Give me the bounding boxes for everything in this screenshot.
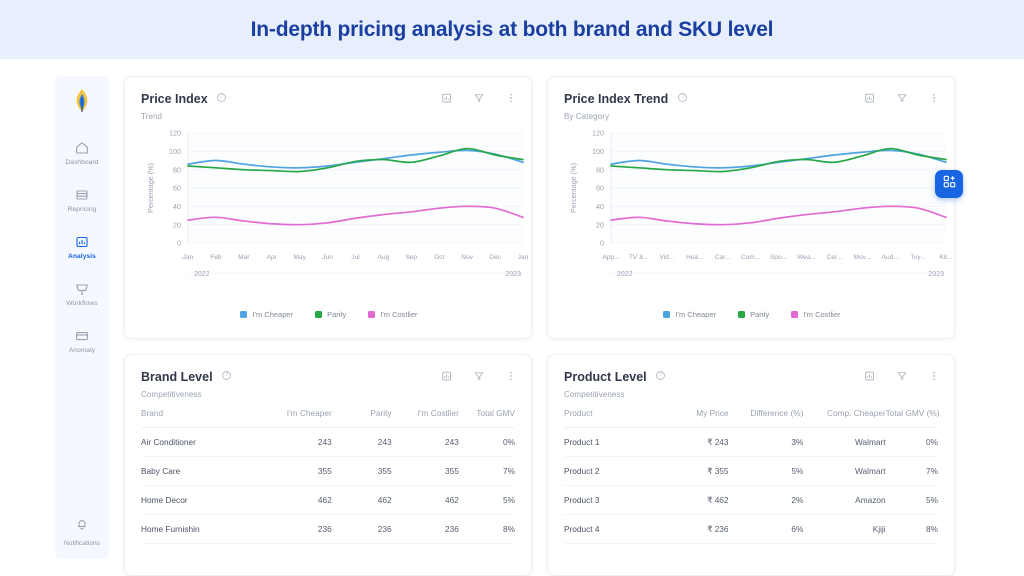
table-cell: 2% xyxy=(729,486,804,515)
export-chart-icon[interactable] xyxy=(864,369,876,381)
table-cell: Product 3 xyxy=(564,486,665,515)
y-axis-tick: 40 xyxy=(596,202,604,211)
table-row[interactable]: Product 2₹ 3555%Walmart7% xyxy=(564,457,938,486)
app-stage: Dashboard Repricing xyxy=(0,59,1024,576)
card-title: Product Level xyxy=(564,370,647,384)
chart-legend: I'm Cheaper Parity I'm Costlier xyxy=(548,310,956,319)
y-axis-tick: 60 xyxy=(596,184,604,193)
home-icon xyxy=(74,140,90,156)
x-axis-tick: Sep xyxy=(405,254,417,261)
filter-icon[interactable] xyxy=(896,91,908,103)
x-axis-tick: Aug xyxy=(378,254,390,261)
brand-level-table: BrandI'm CheaperParityI'm CostlierTotal … xyxy=(141,403,515,544)
table-cell: 355 xyxy=(392,457,459,486)
export-chart-icon[interactable] xyxy=(441,369,453,381)
x-axis-tick: Oct xyxy=(434,254,444,261)
table-body: Air Conditioner2432432430%Baby Care35535… xyxy=(141,428,515,544)
x-axis-tick: Apr xyxy=(267,254,278,261)
more-options-icon[interactable] xyxy=(505,369,517,381)
axis-range-start-label: 2022 xyxy=(194,271,210,278)
table-product-level: ProductMy PriceDifference (%)Comp. Cheap… xyxy=(548,403,954,544)
x-axis-tick: Nov xyxy=(461,254,473,261)
card-title: Brand Level xyxy=(141,370,213,384)
table-cell: Product 4 xyxy=(564,515,665,544)
sidebar-item-dashboard[interactable]: Dashboard xyxy=(55,133,109,173)
sidebar-item-label: Notifications xyxy=(64,540,100,547)
help-circle-icon[interactable] xyxy=(217,93,226,102)
table-cell: Product 1 xyxy=(564,428,665,457)
x-axis-tick: Aud... xyxy=(882,254,899,261)
table-header-row: BrandI'm CheaperParityI'm CostlierTotal … xyxy=(141,403,515,428)
y-axis-tick: 100 xyxy=(169,147,181,156)
sidebar-item-notifications[interactable]: Notifications xyxy=(55,516,109,547)
legend-label: Parity xyxy=(327,310,346,319)
y-axis-tick: 80 xyxy=(596,165,604,174)
table-cell: 0% xyxy=(459,428,515,457)
x-axis-tick: Mov... xyxy=(854,254,872,261)
card-title: Price Index xyxy=(141,92,208,106)
y-axis-tick: 0 xyxy=(600,239,604,248)
export-chart-icon[interactable] xyxy=(864,91,876,103)
legend-swatch-cheaper xyxy=(240,311,247,318)
legend-label: I'm Cheaper xyxy=(252,310,293,319)
table-row[interactable]: Product 4₹ 2366%Kjiji8% xyxy=(564,515,938,544)
product-level-table: ProductMy PriceDifference (%)Comp. Cheap… xyxy=(564,403,938,544)
table-cell: Walmart xyxy=(803,428,885,457)
legend-label: I'm Cheaper xyxy=(675,310,716,319)
column-header[interactable]: Comp. Cheaper xyxy=(803,403,885,428)
card-actions xyxy=(864,91,940,103)
table-cell: Home Furnishin xyxy=(141,515,257,544)
card-price-index: Price Index Trend xyxy=(124,76,532,339)
x-axis-tick: Jul xyxy=(351,254,360,261)
x-axis-tick: May xyxy=(293,254,306,261)
column-header[interactable]: Product xyxy=(564,403,665,428)
x-axis-tick: Jun xyxy=(322,254,333,261)
help-circle-icon[interactable] xyxy=(222,371,231,380)
table-cell: 236 xyxy=(257,515,332,544)
sidebar-nav: Dashboard Repricing xyxy=(55,133,109,368)
more-options-icon[interactable] xyxy=(928,369,940,381)
bell-icon xyxy=(74,516,90,537)
x-axis-tick: Com... xyxy=(741,254,761,261)
table-cell: 462 xyxy=(332,486,392,515)
analysis-icon xyxy=(74,234,90,250)
column-header[interactable]: Brand xyxy=(141,403,257,428)
column-header[interactable]: My Price xyxy=(665,403,729,428)
filter-icon[interactable] xyxy=(473,91,485,103)
axis-range-end-label: 2023 xyxy=(928,271,944,278)
table-cell: ₹ 243 xyxy=(665,428,729,457)
table-cell: Walmart xyxy=(803,457,885,486)
table-cell: 243 xyxy=(257,428,332,457)
sidebar-item-repricing[interactable]: Repricing xyxy=(55,180,109,220)
legend-item[interactable]: I'm Cheaper xyxy=(240,310,293,319)
table-row[interactable]: Product 3₹ 4622%Amazon5% xyxy=(564,486,938,515)
table-cell: ₹ 236 xyxy=(665,515,729,544)
x-axis-scroll-left-icon[interactable]: ‹ xyxy=(604,254,606,261)
axis-range-start-label: 2022 xyxy=(617,271,633,278)
axis-range-end-label: 2023 xyxy=(505,271,521,278)
table-brand-level: BrandI'm CheaperParityI'm CostlierTotal … xyxy=(125,403,531,544)
legend-swatch-cheaper xyxy=(663,311,670,318)
legend-swatch-parity xyxy=(738,311,745,318)
column-header[interactable]: I'm Costlier xyxy=(392,403,459,428)
table-cell: 236 xyxy=(392,515,459,544)
column-header[interactable]: Parity xyxy=(332,403,392,428)
x-axis-tick: Toy... xyxy=(910,254,925,261)
y-axis-tick: 120 xyxy=(592,129,604,138)
x-axis-tick: TV &... xyxy=(629,254,649,261)
table-row[interactable]: Air Conditioner2432432430% xyxy=(141,428,515,457)
table-row[interactable]: Product 1₹ 2433%Walmart0% xyxy=(564,428,938,457)
x-axis-tick: Mar xyxy=(238,254,250,261)
y-axis-label: Percentage (%) xyxy=(146,163,155,213)
x-axis-tick: Car... xyxy=(715,254,731,261)
table-cell: Home Decor xyxy=(141,486,257,515)
table-cell: 462 xyxy=(257,486,332,515)
table-cell: 7% xyxy=(459,457,515,486)
page-title: In-depth pricing analysis at both brand … xyxy=(251,18,774,42)
x-axis-tick: Cel... xyxy=(827,254,843,261)
card-subtitle: By Category xyxy=(564,112,938,121)
sidebar-item-anomaly[interactable]: Anomaly xyxy=(55,321,109,361)
table-cell: 355 xyxy=(332,457,392,486)
legend-item[interactable]: I'm Costlier xyxy=(368,310,417,319)
y-axis-tick: 20 xyxy=(596,220,604,229)
card-header: Brand Level Competitiveness xyxy=(125,355,531,403)
table-cell: Product 2 xyxy=(564,457,665,486)
legend-swatch-parity xyxy=(315,311,322,318)
card-header: Price Index Trend By Category xyxy=(548,77,954,125)
column-header[interactable]: Total GMV xyxy=(459,403,515,428)
table-cell: 3% xyxy=(729,428,804,457)
legend-swatch-costlier xyxy=(368,311,375,318)
card-header: Product Level Competitiveness xyxy=(548,355,954,403)
y-axis-tick: 60 xyxy=(173,184,181,193)
table-cell: 5% xyxy=(886,486,938,515)
chart-legend: I'm Cheaper Parity I'm Costlier xyxy=(125,310,533,319)
column-header[interactable]: Difference (%) xyxy=(729,403,804,428)
legend-item[interactable]: I'm Costlier xyxy=(791,310,840,319)
x-axis-tick: Feb xyxy=(210,254,222,261)
table-header-row: ProductMy PriceDifference (%)Comp. Cheap… xyxy=(564,403,938,428)
more-options-icon[interactable] xyxy=(928,91,940,103)
table-cell: ₹ 462 xyxy=(665,486,729,515)
card-header: Price Index Trend xyxy=(125,77,531,125)
table-head: BrandI'm CheaperParityI'm CostlierTotal … xyxy=(141,403,515,428)
sidebar-item-workflows[interactable]: Workflows xyxy=(55,274,109,314)
table-body: Product 1₹ 2433%Walmart0%Product 2₹ 3555… xyxy=(564,428,938,544)
app-root: In-depth pricing analysis at both brand … xyxy=(0,0,1024,576)
table-cell: 243 xyxy=(392,428,459,457)
y-axis-tick: 20 xyxy=(173,220,181,229)
table-cell: Air Conditioner xyxy=(141,428,257,457)
sidebar-item-label: Anomaly xyxy=(69,347,95,354)
more-options-icon[interactable] xyxy=(505,91,517,103)
legend-swatch-costlier xyxy=(791,311,798,318)
card-icon xyxy=(74,328,90,344)
sidebar: Dashboard Repricing xyxy=(55,76,109,559)
y-axis-tick: 80 xyxy=(173,165,181,174)
legend-item[interactable]: Parity xyxy=(738,310,769,319)
card-actions xyxy=(441,369,517,381)
y-axis-tick: 40 xyxy=(173,202,181,211)
table-cell: 462 xyxy=(392,486,459,515)
table-cell: 5% xyxy=(459,486,515,515)
banner: In-depth pricing analysis at both brand … xyxy=(0,0,1024,59)
leaf-logo[interactable] xyxy=(67,85,97,115)
table-cell: 8% xyxy=(886,515,938,544)
x-axis-tick: Vid... xyxy=(659,254,674,261)
x-axis-tick: Jan xyxy=(518,254,529,261)
y-axis-label: Percentage (%) xyxy=(569,163,578,213)
table-cell: Amazon xyxy=(803,486,885,515)
legend-label: I'm Costlier xyxy=(803,310,840,319)
card-actions xyxy=(864,369,940,381)
card-brand-level: Brand Level Competitiveness xyxy=(124,354,532,576)
x-axis-tick: Wea... xyxy=(797,254,816,261)
table-cell: 7% xyxy=(886,457,938,486)
card-subtitle: Competitiveness xyxy=(141,390,515,399)
export-chart-icon[interactable] xyxy=(441,91,453,103)
card-actions xyxy=(441,91,517,103)
table-cell: 236 xyxy=(332,515,392,544)
y-axis-tick: 0 xyxy=(177,239,181,248)
legend-label: I'm Costlier xyxy=(380,310,417,319)
x-axis-tick: Hea... xyxy=(686,254,704,261)
table-cell: Baby Care xyxy=(141,457,257,486)
legend-label: Parity xyxy=(750,310,769,319)
table-cell: 5% xyxy=(729,457,804,486)
table-row[interactable]: Baby Care3553553557% xyxy=(141,457,515,486)
table-cell: ₹ 355 xyxy=(665,457,729,486)
x-axis-tick: Jan xyxy=(183,254,194,261)
sidebar-item-label: Repricing xyxy=(68,206,97,213)
table-cell: 8% xyxy=(459,515,515,544)
card-subtitle: Trend xyxy=(141,112,515,121)
y-axis-tick: 120 xyxy=(169,129,181,138)
x-axis-tick: Kit... xyxy=(939,254,952,261)
x-axis-tick: Dec xyxy=(489,254,501,261)
x-axis-scroll-left-icon[interactable]: ‹ xyxy=(181,254,183,261)
legend-item[interactable]: I'm Cheaper xyxy=(663,310,716,319)
help-circle-icon[interactable] xyxy=(656,371,665,380)
apps-grid-button[interactable] xyxy=(935,170,963,198)
filter-icon[interactable] xyxy=(473,369,485,381)
apps-grid-icon xyxy=(942,174,957,194)
table-cell: 355 xyxy=(257,457,332,486)
help-circle-icon[interactable] xyxy=(678,93,687,102)
sidebar-item-label: Analysis xyxy=(68,253,96,260)
card-title: Price Index Trend xyxy=(564,92,668,106)
cart-icon xyxy=(74,281,90,297)
table-cell: 243 xyxy=(332,428,392,457)
legend-item[interactable]: Parity xyxy=(315,310,346,319)
sidebar-item-label: Workflows xyxy=(66,300,97,307)
sidebar-item-label: Dashboard xyxy=(65,159,98,166)
card-product-level: Product Level Competitiveness xyxy=(547,354,955,576)
table-row[interactable]: Home Furnishin2362362368% xyxy=(141,515,515,544)
card-price-index-trend: Price Index Trend By Category xyxy=(547,76,955,339)
card-subtitle: Competitiveness xyxy=(564,390,938,399)
filter-icon[interactable] xyxy=(896,369,908,381)
chart-price-index: 020406080100120Percentage (%)JanFebMarAp… xyxy=(125,125,533,325)
table-cell: 6% xyxy=(729,515,804,544)
x-axis-tick: Spo... xyxy=(770,254,787,261)
table-row[interactable]: Home Decor4624624625% xyxy=(141,486,515,515)
tag-icon xyxy=(74,187,90,203)
table-cell: 0% xyxy=(886,428,938,457)
column-header[interactable]: I'm Cheaper xyxy=(257,403,332,428)
sidebar-item-analysis[interactable]: Analysis xyxy=(55,227,109,267)
chart-price-index-trend: 020406080100120Percentage (%)App...TV &.… xyxy=(548,125,956,325)
y-axis-tick: 100 xyxy=(592,147,604,156)
table-head: ProductMy PriceDifference (%)Comp. Cheap… xyxy=(564,403,938,428)
table-cell: Kjiji xyxy=(803,515,885,544)
column-header[interactable]: Total GMV (%) xyxy=(886,403,938,428)
